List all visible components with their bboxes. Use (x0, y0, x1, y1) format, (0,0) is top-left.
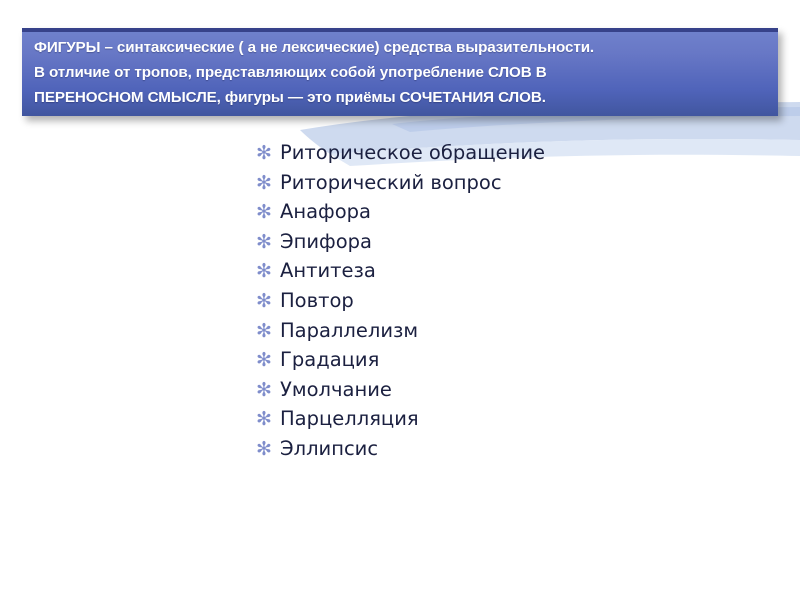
asterisk-bullet-icon: ✻ (256, 287, 280, 317)
list-item: ✻ Параллелизм (256, 316, 736, 346)
list-item-label: Повтор (280, 286, 736, 316)
list-item: ✻ Парцелляция (256, 404, 736, 434)
asterisk-bullet-icon: ✻ (256, 346, 280, 376)
list-item: ✻ Градация (256, 345, 736, 375)
list-item: ✻ Риторическое обращение (256, 138, 736, 168)
list-item: ✻ Умолчание (256, 375, 736, 405)
list-item-label: Антитеза (280, 256, 736, 286)
asterisk-bullet-icon: ✻ (256, 317, 280, 347)
list-item-label: Параллелизм (280, 316, 736, 346)
list-item-label: Анафора (280, 197, 736, 227)
title-line-3: ПЕРЕНОСНОМ СМЫСЛЕ, фигуры — это приёмы С… (34, 85, 774, 110)
list-item-label: Риторический вопрос (280, 168, 736, 198)
list-item-label: Эпифора (280, 227, 736, 257)
asterisk-bullet-icon: ✻ (256, 228, 280, 258)
list-item-label: Риторическое обращение (280, 138, 736, 168)
title-line-2: В отличие от тропов, представляющих собо… (34, 60, 774, 85)
asterisk-bullet-icon: ✻ (256, 198, 280, 228)
asterisk-bullet-icon: ✻ (256, 376, 280, 406)
list-item: ✻ Анафора (256, 197, 736, 227)
asterisk-bullet-icon: ✻ (256, 435, 280, 465)
asterisk-bullet-icon: ✻ (256, 139, 280, 169)
title-line-1: ФИГУРЫ – синтаксические ( а не лексическ… (34, 35, 774, 60)
list-item: ✻ Эпифора (256, 227, 736, 257)
bullet-list: ✻ Риторическое обращение ✻ Риторический … (256, 138, 736, 464)
list-item-label: Градация (280, 345, 736, 375)
list-item-label: Парцелляция (280, 404, 736, 434)
asterisk-bullet-icon: ✻ (256, 257, 280, 287)
list-item-label: Умолчание (280, 375, 736, 405)
asterisk-bullet-icon: ✻ (256, 405, 280, 435)
list-item: ✻ Риторический вопрос (256, 168, 736, 198)
list-item: ✻ Антитеза (256, 256, 736, 286)
slide-canvas: ФИГУРЫ – синтаксические ( а не лексическ… (0, 0, 800, 600)
page-title: ФИГУРЫ – синтаксические ( а не лексическ… (34, 35, 774, 110)
asterisk-bullet-icon: ✻ (256, 169, 280, 199)
list-item: ✻ Эллипсис (256, 434, 736, 464)
list-item: ✻ Повтор (256, 286, 736, 316)
list-item-label: Эллипсис (280, 434, 736, 464)
title-banner: ФИГУРЫ – синтаксические ( а не лексическ… (22, 28, 778, 116)
